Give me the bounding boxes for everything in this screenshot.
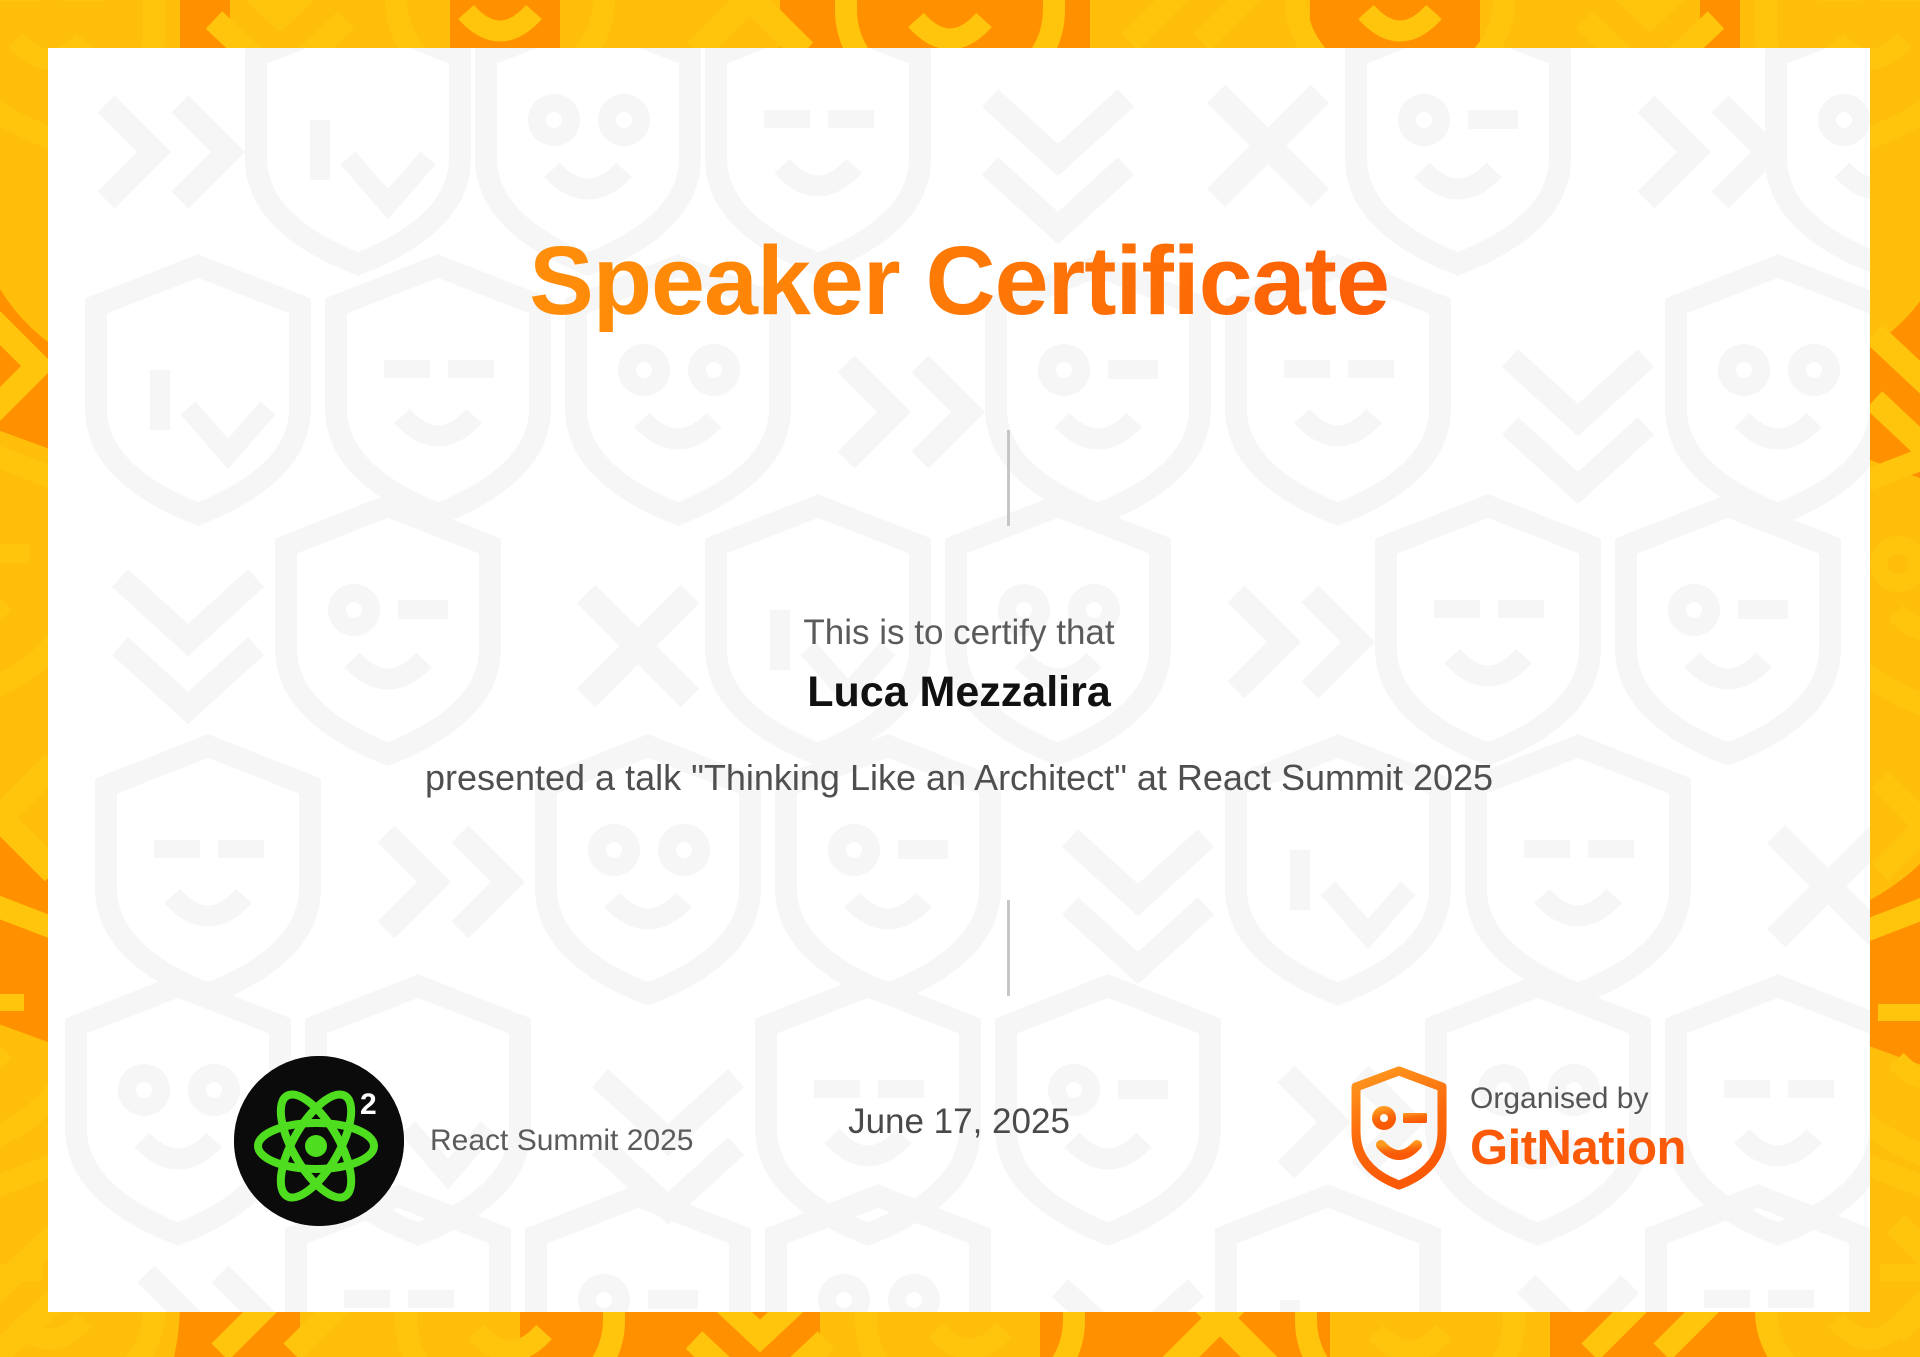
speaker-certificate: Speaker Certificate This is to certify t… bbox=[0, 0, 1920, 1357]
recipient-name: Luca Mezzalira bbox=[48, 668, 1870, 717]
organiser-name-label: GitNation bbox=[1470, 1124, 1686, 1173]
certify-line: This is to certify that bbox=[48, 613, 1870, 653]
gitnation-shield-face-icon bbox=[1350, 1066, 1448, 1190]
certificate-card: Speaker Certificate This is to certify t… bbox=[48, 48, 1870, 1312]
divider-bottom bbox=[1007, 900, 1010, 996]
organised-by-label: Organised by bbox=[1470, 1084, 1686, 1114]
divider-top bbox=[1007, 430, 1010, 526]
certificate-title: Speaker Certificate bbox=[48, 230, 1870, 332]
organiser-branding: Organised by GitNation bbox=[1350, 1066, 1686, 1190]
talk-description: presented a talk "Thinking Like an Archi… bbox=[48, 757, 1870, 799]
